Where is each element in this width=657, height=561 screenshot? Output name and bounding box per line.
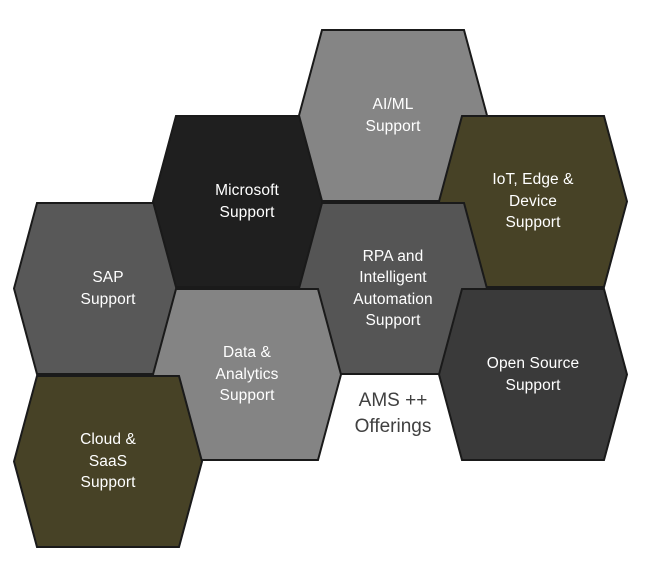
hexagon-cloud-saas-support[interactable]: Cloud & SaaS Support bbox=[13, 375, 203, 548]
hexagon-shape bbox=[13, 375, 203, 548]
ams-offerings-label: AMS ++ Offerings bbox=[318, 378, 468, 450]
honeycomb-diagram: SAP SupportMicrosoft SupportAI/ML Suppor… bbox=[0, 0, 657, 561]
